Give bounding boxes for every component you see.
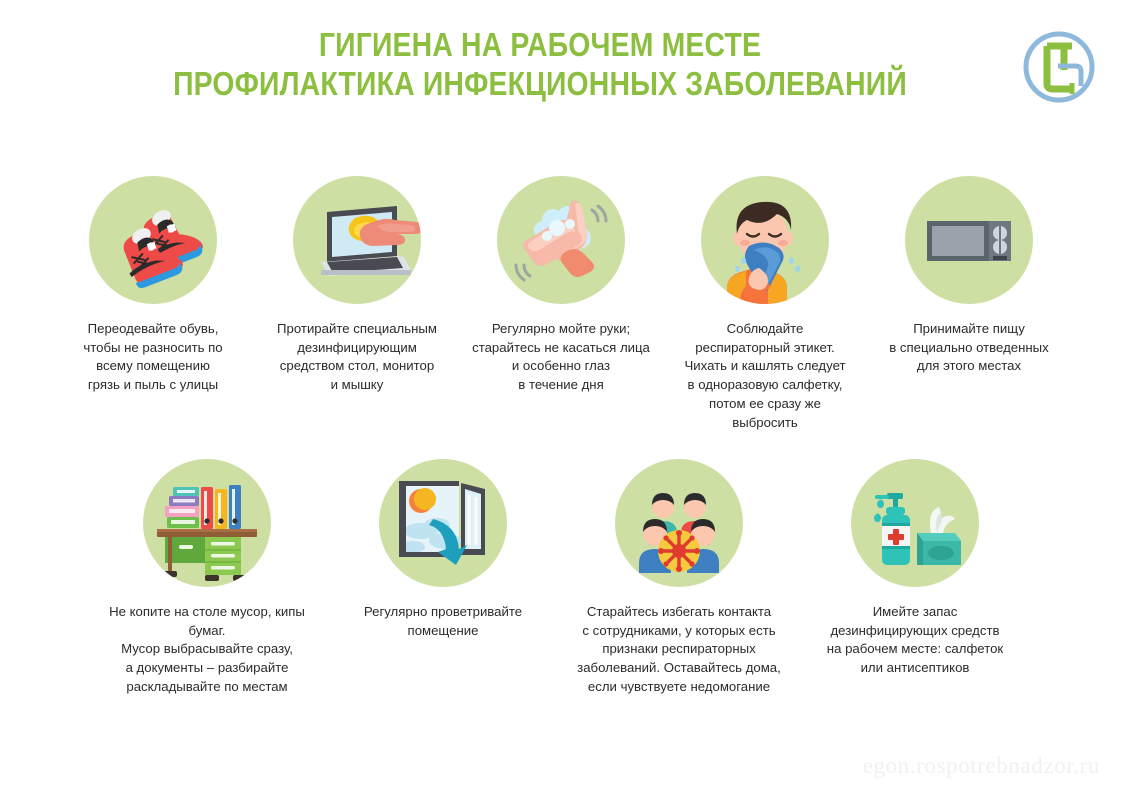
tip-card-microwave: Принимайте пищу в специально отведенных …: [867, 176, 1071, 432]
tip-caption: Регулярно мойте руки; старайтесь не каса…: [463, 320, 659, 395]
title-line-2: ПРОФИЛАКТИКА ИНФЕКЦИОННЫХ ЗАБОЛЕВАНИЙ: [127, 65, 953, 104]
rospotrebnadzor-monogram-logo: [1020, 28, 1098, 106]
tip-card-ventilation: Регулярно проветривайте помещение: [325, 459, 561, 697]
tip-caption: Переодевайте обувь, чтобы не разносить п…: [55, 320, 251, 395]
sneakers-icon: [89, 176, 217, 304]
tip-card-desk-clutter: Не копите на столе мусор, кипы бумаг. Му…: [89, 459, 325, 697]
tip-caption: Старайтесь избегать контакта с сотрудник…: [564, 603, 794, 697]
tip-caption: Принимайте пищу в специально отведенных …: [871, 320, 1067, 376]
tip-card-laptop-wipe: Протирайте специальным дезинфицирующим с…: [255, 176, 459, 432]
open-window-ventilation-icon: [379, 459, 507, 587]
tips-row-2: Не копите на столе мусор, кипы бумаг. Му…: [0, 459, 1122, 697]
sneezing-person-icon: [701, 176, 829, 304]
hand-washing-icon: [497, 176, 625, 304]
watermark: egon.rospotrebnadzor.ru: [863, 753, 1100, 779]
page-title: ГИГИЕНА НА РАБОЧЕМ МЕСТЕ ПРОФИЛАКТИКА ИН…: [60, 26, 1020, 104]
desk-with-books-icon: [143, 459, 271, 587]
header: ГИГИЕНА НА РАБОЧЕМ МЕСТЕ ПРОФИЛАКТИКА ИН…: [0, 0, 1122, 150]
tip-caption: Не копите на столе мусор, кипы бумаг. Му…: [92, 603, 322, 697]
tip-card-sneakers: Переодевайте обувь, чтобы не разносить п…: [51, 176, 255, 432]
tip-caption: Протирайте специальным дезинфицирующим с…: [259, 320, 455, 395]
laptop-wipe-icon: [293, 176, 421, 304]
tip-caption: Соблюдайте респираторный этикет. Чихать …: [667, 320, 863, 432]
tip-caption: Регулярно проветривайте помещение: [328, 603, 558, 640]
tip-card-sanitizer-supplies: Имейте запас дезинфицирующих средств на …: [797, 459, 1033, 697]
tip-card-avoid-contact: Старайтесь избегать контакта с сотрудник…: [561, 459, 797, 697]
people-group-virus-icon: [615, 459, 743, 587]
tip-card-hand-washing: Регулярно мойте руки; старайтесь не каса…: [459, 176, 663, 432]
title-line-1: ГИГИЕНА НА РАБОЧЕМ МЕСТЕ: [127, 26, 953, 65]
tip-card-sneezing-person: Соблюдайте респираторный этикет. Чихать …: [663, 176, 867, 432]
sanitizer-and-tissues-icon: [851, 459, 979, 587]
microwave-icon: [905, 176, 1033, 304]
tips-row-1: Переодевайте обувь, чтобы не разносить п…: [0, 176, 1122, 432]
tip-caption: Имейте запас дезинфицирующих средств на …: [800, 603, 1030, 678]
